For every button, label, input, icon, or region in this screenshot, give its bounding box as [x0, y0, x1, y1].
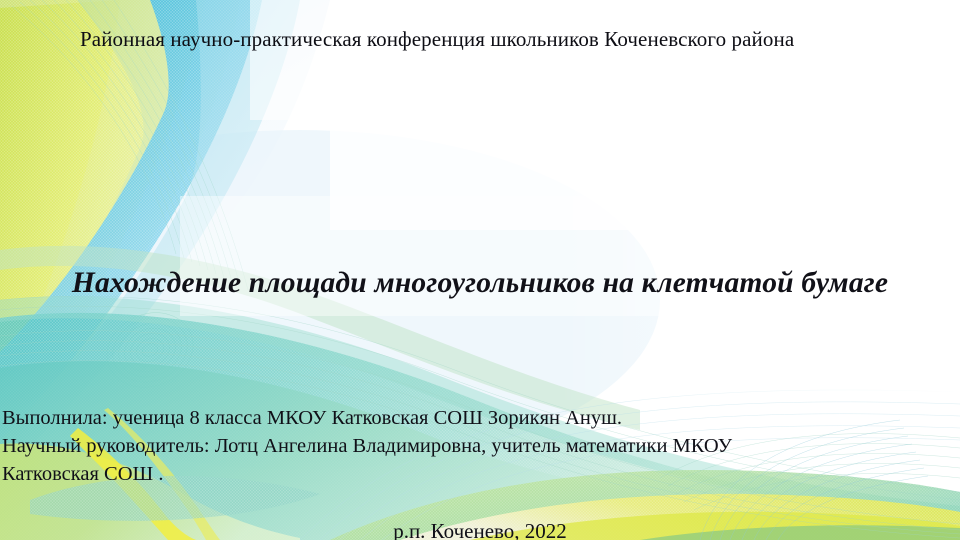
slide-text-layer: Районная научно-практическая конференция… [0, 0, 960, 540]
page-title: Нахождение площади многоугольников на кл… [0, 266, 960, 301]
presentation-slide: Районная научно-практическая конференция… [0, 0, 960, 540]
author-line-school: Катковская СОШ . [2, 460, 942, 488]
conference-header: Районная научно-практическая конференция… [80, 26, 920, 52]
venue-and-year: р.п. Коченево, 2022 [0, 519, 960, 540]
author-line-supervisor: Научный руководитель: Лотц Ангелина Влад… [2, 432, 942, 460]
authors-block: Выполнила: ученица 8 класса МКОУ Катковс… [2, 404, 942, 488]
author-line-student: Выполнила: ученица 8 класса МКОУ Катковс… [2, 404, 942, 432]
